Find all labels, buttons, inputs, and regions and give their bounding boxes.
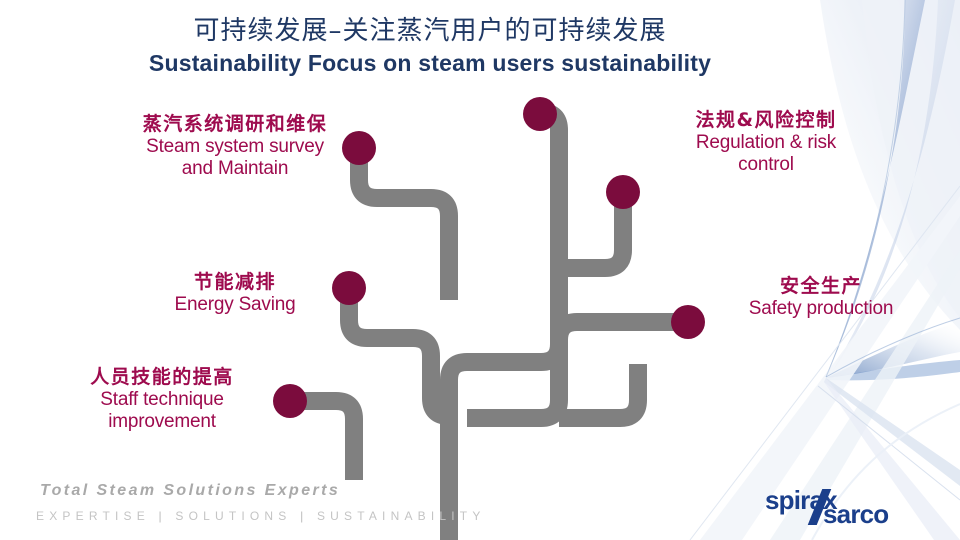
label-safety-production-english-line1: Safety production <box>726 298 916 319</box>
branch-to-energy-saving <box>349 288 449 416</box>
node-energy-saving <box>332 271 366 305</box>
label-safety-production-chinese: 安全生产 <box>726 276 916 297</box>
label-regulation-risk: 法规&风险控制 Regulation & risk control <box>666 110 866 175</box>
footer-separator-2: | <box>300 509 308 523</box>
node-risk <box>606 175 640 209</box>
footer-pillar-sustainability: SUSTAINABILITY <box>317 509 486 523</box>
footer-separator-1: | <box>158 509 166 523</box>
node-safety-production <box>671 305 705 339</box>
label-regulation-risk-english-line1: Regulation & risk <box>666 132 866 153</box>
logo-word-sarco: sarco <box>823 499 888 530</box>
label-energy-saving-chinese: 节能减排 <box>140 272 330 293</box>
footer-pillar-expertise: EXPERTISE <box>36 509 150 523</box>
footer-tagline: Total Steam Solutions Experts <box>40 482 340 500</box>
label-steam-system-english-line2: and Maintain <box>118 158 352 179</box>
node-staff-technique <box>273 384 307 418</box>
label-steam-system: 蒸汽系统调研和维保 Steam system survey and Mainta… <box>118 114 352 179</box>
spirax-sarco-logo: spirax sarco <box>765 485 945 533</box>
node-regulation <box>523 97 557 131</box>
footer-pillar-solutions: SOLUTIONS <box>175 509 291 523</box>
label-regulation-risk-english-line2: control <box>666 154 866 175</box>
branch-to-steam-system <box>359 148 449 300</box>
label-regulation-risk-chinese: 法规&风险控制 <box>666 110 866 131</box>
tree-branch-diagram <box>0 0 960 540</box>
label-staff-technique-english-line1: Staff technique <box>62 389 262 410</box>
label-steam-system-english-line1: Steam system survey <box>118 136 352 157</box>
footer-pillars: EXPERTISE | SOLUTIONS | SUSTAINABILITY <box>36 509 486 523</box>
label-safety-production: 安全生产 Safety production <box>726 276 916 320</box>
slide-canvas: 可持续发展–关注蒸汽用户的可持续发展 Sustainability Focus … <box>0 0 960 540</box>
branch-right-stub <box>559 364 638 418</box>
label-energy-saving: 节能减排 Energy Saving <box>140 272 330 316</box>
label-energy-saving-english-line1: Energy Saving <box>140 294 330 315</box>
label-staff-technique-english-line2: improvement <box>62 411 262 432</box>
label-staff-technique-chinese: 人员技能的提高 <box>62 367 262 388</box>
label-staff-technique: 人员技能的提高 Staff technique improvement <box>62 367 262 432</box>
label-steam-system-chinese: 蒸汽系统调研和维保 <box>118 114 352 135</box>
branch-trunk-to-regulation <box>449 112 559 540</box>
